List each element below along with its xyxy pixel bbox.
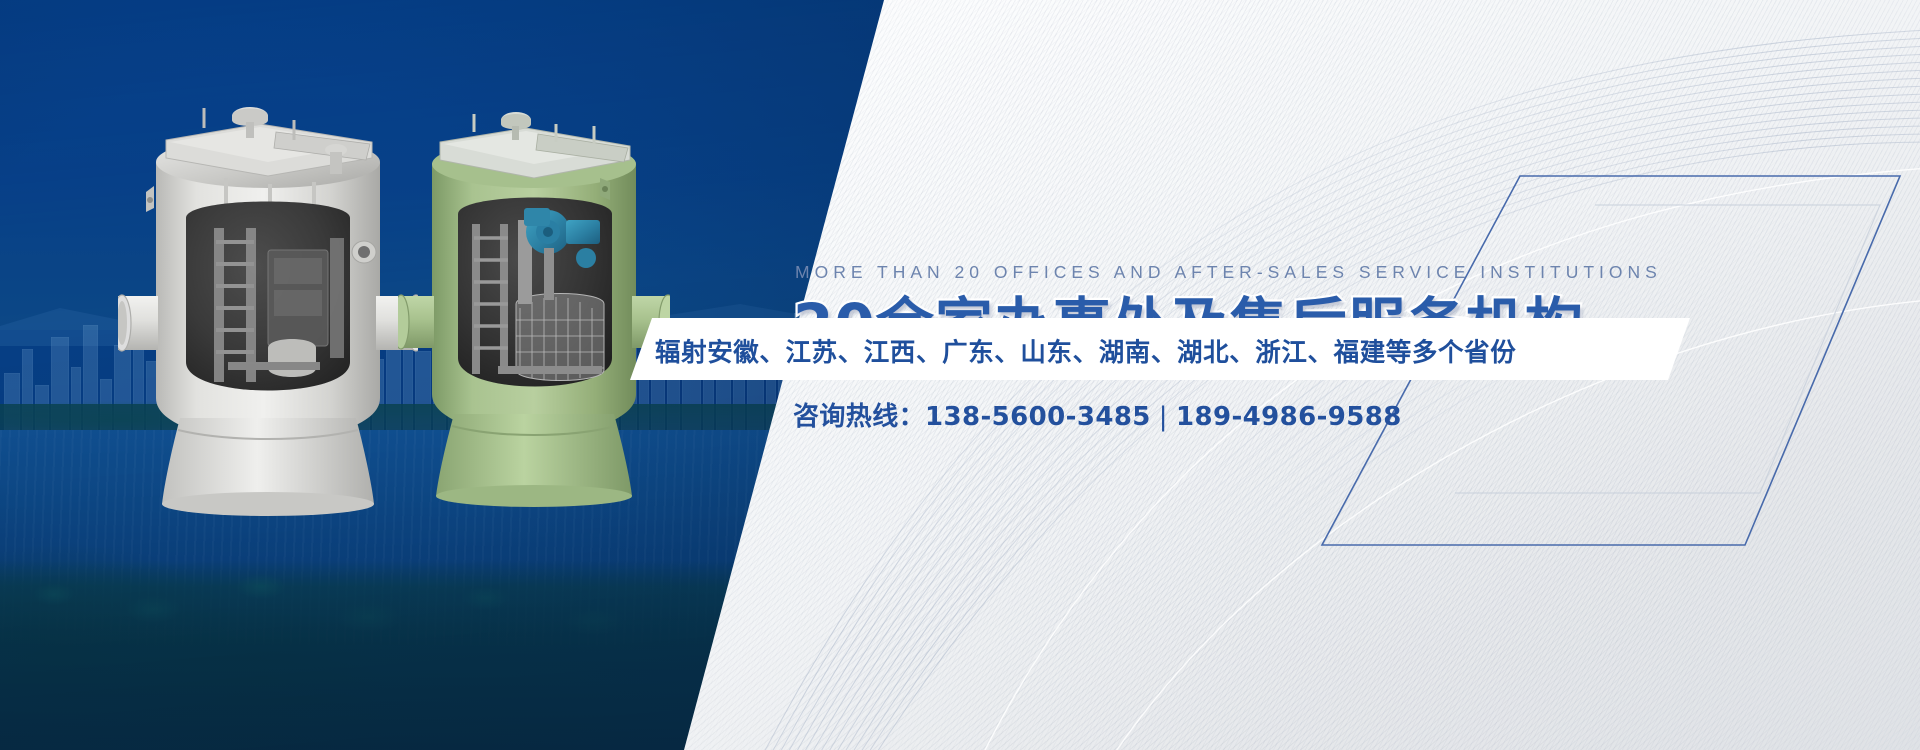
province-list-text: 辐射安徽、江苏、江西、广东、山东、湖南、湖北、浙江、福建等多个省份	[655, 332, 1516, 369]
hotline-separator: |	[1151, 402, 1176, 432]
province-strip-wrapper: 辐射安徽、江苏、江西、广东、山东、湖南、湖北、浙江、福建等多个省份	[790, 0, 1920, 750]
hotline-row: 咨询热线：138-5600-3485|189-4986-9588	[793, 396, 1402, 433]
promo-banner: MORE THAN 20 OFFICES AND AFTER-SALES SER…	[0, 0, 1920, 750]
green-prefabricated-pump-station	[398, 108, 670, 508]
hotline-secondary-number[interactable]: 189-4986-9588	[1176, 402, 1402, 432]
banner-content: MORE THAN 20 OFFICES AND AFTER-SALES SER…	[790, 0, 1920, 750]
hotline-label: 咨询热线：	[793, 402, 925, 432]
hotline-primary-number[interactable]: 138-5600-3485	[925, 402, 1151, 432]
gray-prefabricated-pump-station	[118, 100, 418, 520]
